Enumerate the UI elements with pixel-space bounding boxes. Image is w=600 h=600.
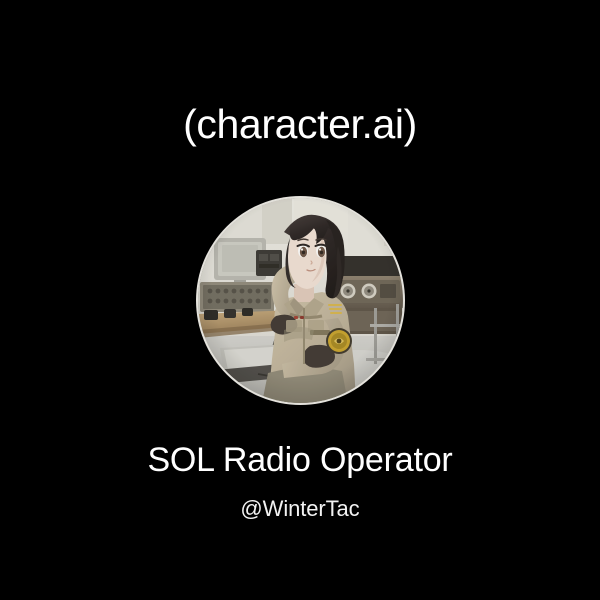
avatar[interactable] bbox=[198, 198, 403, 403]
avatar-illustration bbox=[198, 198, 403, 403]
character-card: (character.ai) bbox=[0, 0, 600, 600]
character-handle: @WinterTac bbox=[0, 495, 600, 523]
page-title: (character.ai) bbox=[0, 99, 600, 149]
character-name: SOL Radio Operator bbox=[0, 440, 600, 480]
